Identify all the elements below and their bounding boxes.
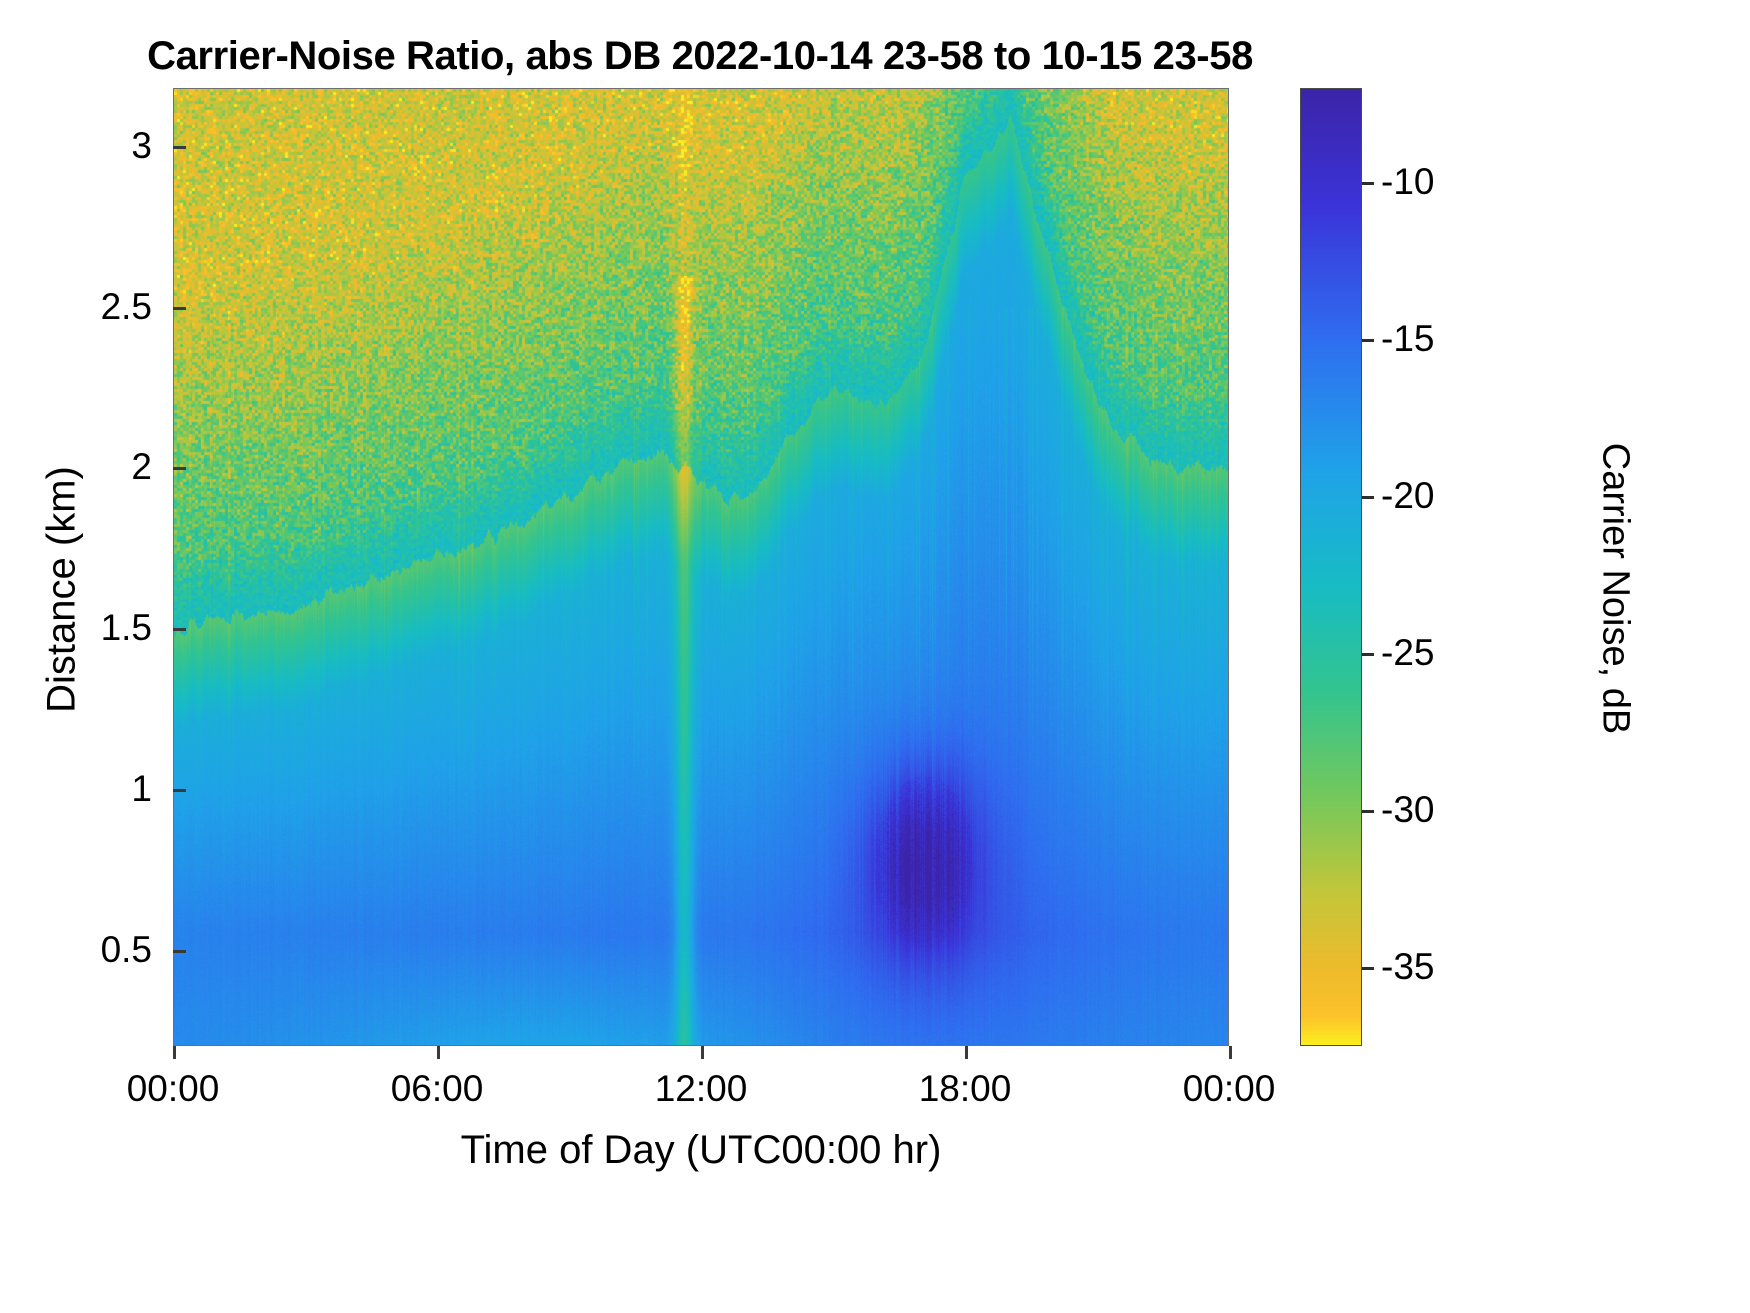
colorbar-gradient: [1300, 88, 1362, 1046]
colorbar-tick-mark: [1362, 496, 1374, 499]
y-tick-mark: [173, 467, 186, 470]
x-tick-mark: [701, 1046, 704, 1059]
y-tick-label: 0.5: [101, 929, 152, 971]
y-tick-label: 2: [131, 446, 152, 488]
colorbar-tick-mark: [1362, 182, 1374, 185]
x-tick-label: 12:00: [655, 1068, 748, 1110]
y-tick-label: 3: [131, 125, 152, 167]
heatmap-image: [174, 89, 1229, 1046]
colorbar-tick-mark: [1362, 810, 1374, 813]
x-tick-label: 06:00: [391, 1068, 484, 1110]
heatmap-axes[interactable]: [173, 88, 1229, 1046]
x-tick-mark: [1229, 1046, 1232, 1059]
x-tick-mark: [965, 1046, 968, 1059]
colorbar-tick-label: -30: [1381, 789, 1434, 831]
colorbar-tick-mark: [1362, 653, 1374, 656]
y-tick-label: 1: [131, 768, 152, 810]
y-tick-mark: [173, 628, 186, 631]
page-title: Carrier-Noise Ratio, abs DB 2022-10-14 2…: [0, 34, 1400, 79]
x-tick-mark: [173, 1046, 176, 1059]
x-tick-label: 00:00: [1183, 1068, 1276, 1110]
y-tick-label: 1.5: [101, 607, 152, 649]
colorbar-tick-mark: [1362, 339, 1374, 342]
y-tick-mark: [173, 307, 186, 310]
x-tick-label: 18:00: [919, 1068, 1012, 1110]
figure-canvas: Carrier-Noise Ratio, abs DB 2022-10-14 2…: [0, 0, 1750, 1313]
colorbar-tick-label: -20: [1381, 475, 1434, 517]
x-tick-mark: [437, 1046, 440, 1059]
y-tick-mark: [173, 146, 186, 149]
y-tick-label: 2.5: [101, 286, 152, 328]
y-tick-mark: [173, 789, 186, 792]
x-tick-label: 00:00: [127, 1068, 220, 1110]
x-axis-label: Time of Day (UTC00:00 hr): [173, 1128, 1229, 1173]
y-tick-mark: [173, 950, 186, 953]
colorbar-tick-label: -10: [1381, 161, 1434, 203]
y-axis-label: Distance (km): [40, 360, 85, 820]
colorbar[interactable]: [1300, 88, 1362, 1046]
colorbar-tick-mark: [1362, 967, 1374, 970]
colorbar-tick-label: -25: [1381, 632, 1434, 674]
colorbar-tick-label: -15: [1381, 318, 1434, 360]
colorbar-tick-label: -35: [1381, 946, 1434, 988]
colorbar-label: Carrier Noise, dB: [1594, 279, 1637, 899]
